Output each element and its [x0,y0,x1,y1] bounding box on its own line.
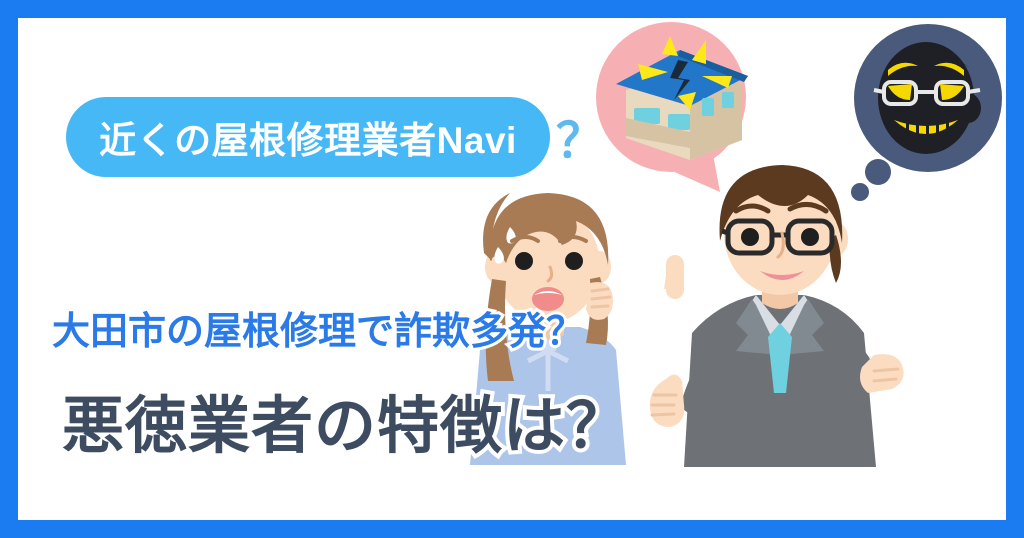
site-badge-label: 近くの屋根修理業者Navi [99,110,517,164]
headline-text: 悪徳業者の特徴は？ [62,375,629,465]
thought-bubble-villain [840,20,1005,205]
speech-bubble-damaged-house [592,22,772,197]
site-badge[interactable]: 近くの屋根修理業者Navi [66,97,550,177]
subtitle-text: 大田市の屋根修理で詐欺多発？ [52,300,584,355]
question-mark-decoration: ？ [556,118,604,166]
banner-canvas: 近くの屋根修理業者Navi ？ 大田市の屋根修理で詐欺多発？ 悪徳業者の特徴は？ [0,0,1024,538]
